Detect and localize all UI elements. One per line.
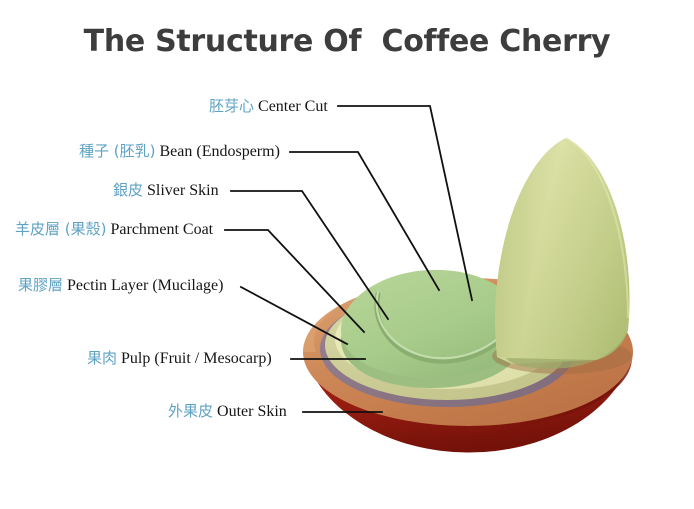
label-parchment-coat-en: Parchment Coat [110,221,213,238]
leader-bean [290,152,439,290]
standing-bean-half [492,138,632,374]
label-sliver-skin: 銀皮Sliver Skin [113,183,219,199]
label-center-cut: 胚芽心Center Cut [209,99,328,115]
label-parchment-coat: 羊皮層 (果殼)Parchment Coat [15,222,213,238]
label-bean-cn: 種子 (胚乳) [79,142,155,160]
label-bean-en: Bean (Endosperm) [159,143,279,160]
label-outer-skin-en: Outer Skin [217,403,287,420]
label-pulp-en: Pulp (Fruit / Mesocarp) [121,350,272,367]
label-bean: 種子 (胚乳)Bean (Endosperm) [79,144,280,160]
label-sliver-skin-cn: 銀皮 [113,181,143,199]
label-outer-skin-cn: 外果皮 [168,402,213,420]
label-pulp: 果肉Pulp (Fruit / Mesocarp) [87,351,272,367]
label-outer-skin: 外果皮Outer Skin [168,404,287,420]
label-center-cut-en: Center Cut [258,98,328,115]
label-pulp-cn: 果肉 [87,349,117,367]
label-pectin-layer-cn: 果膠層 [18,276,63,294]
coffee-cherry-diagram [0,0,694,509]
label-pectin-layer: 果膠層Pectin Layer (Mucilage) [18,278,223,294]
label-sliver-skin-en: Sliver Skin [147,182,219,199]
label-center-cut-cn: 胚芽心 [209,97,254,115]
label-parchment-coat-cn: 羊皮層 (果殼) [15,220,106,238]
label-pectin-layer-en: Pectin Layer (Mucilage) [67,277,223,294]
